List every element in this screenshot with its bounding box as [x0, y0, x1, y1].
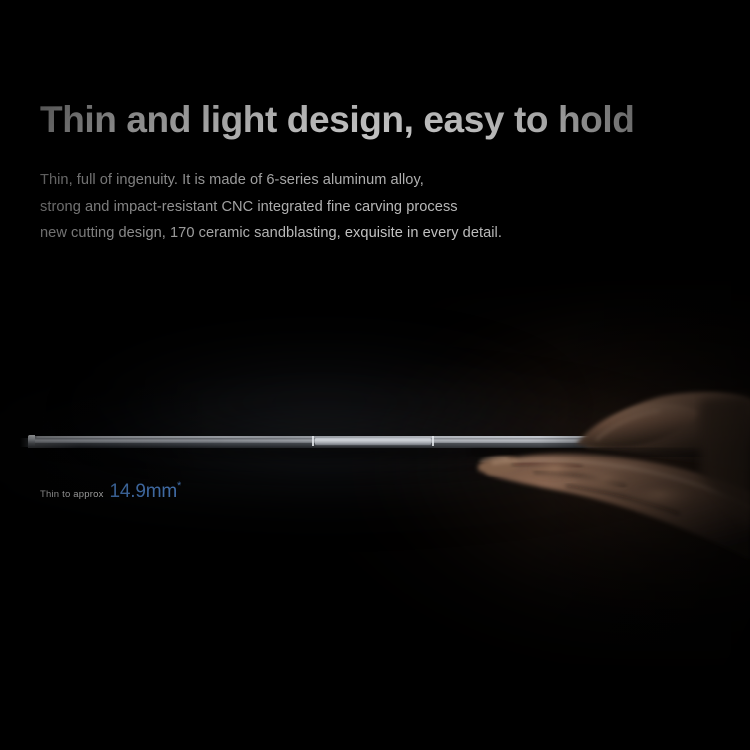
thickness-caption: Thin to approx 14.9mm *	[40, 481, 181, 503]
warm-glow-light	[330, 300, 750, 660]
top-glow-light	[60, 330, 580, 440]
page-title: Thin and light design, easy to hold	[40, 99, 634, 141]
description-line-3: new cutting design, 170 ceramic sandblas…	[40, 220, 502, 247]
description-paragraph: Thin, full of ingenuity. It is made of 6…	[40, 167, 502, 247]
device-center-module	[315, 438, 431, 445]
footnote-marker: *	[177, 480, 181, 492]
description-line-1: Thin, full of ingenuity. It is made of 6…	[40, 167, 502, 194]
thickness-label: Thin to approx	[40, 489, 104, 500]
curled-fingers	[478, 454, 750, 560]
description-line-2: strong and impact-resistant CNC integrat…	[40, 194, 502, 221]
promo-banner: Thin and light design, easy to hold Thin…	[0, 0, 750, 750]
device-left-tip-highlight	[28, 435, 35, 447]
thickness-value: 14.9mm	[110, 481, 177, 503]
wrist	[700, 397, 750, 530]
device-drop-shadow	[38, 447, 658, 463]
device-edge-profile	[28, 433, 668, 453]
